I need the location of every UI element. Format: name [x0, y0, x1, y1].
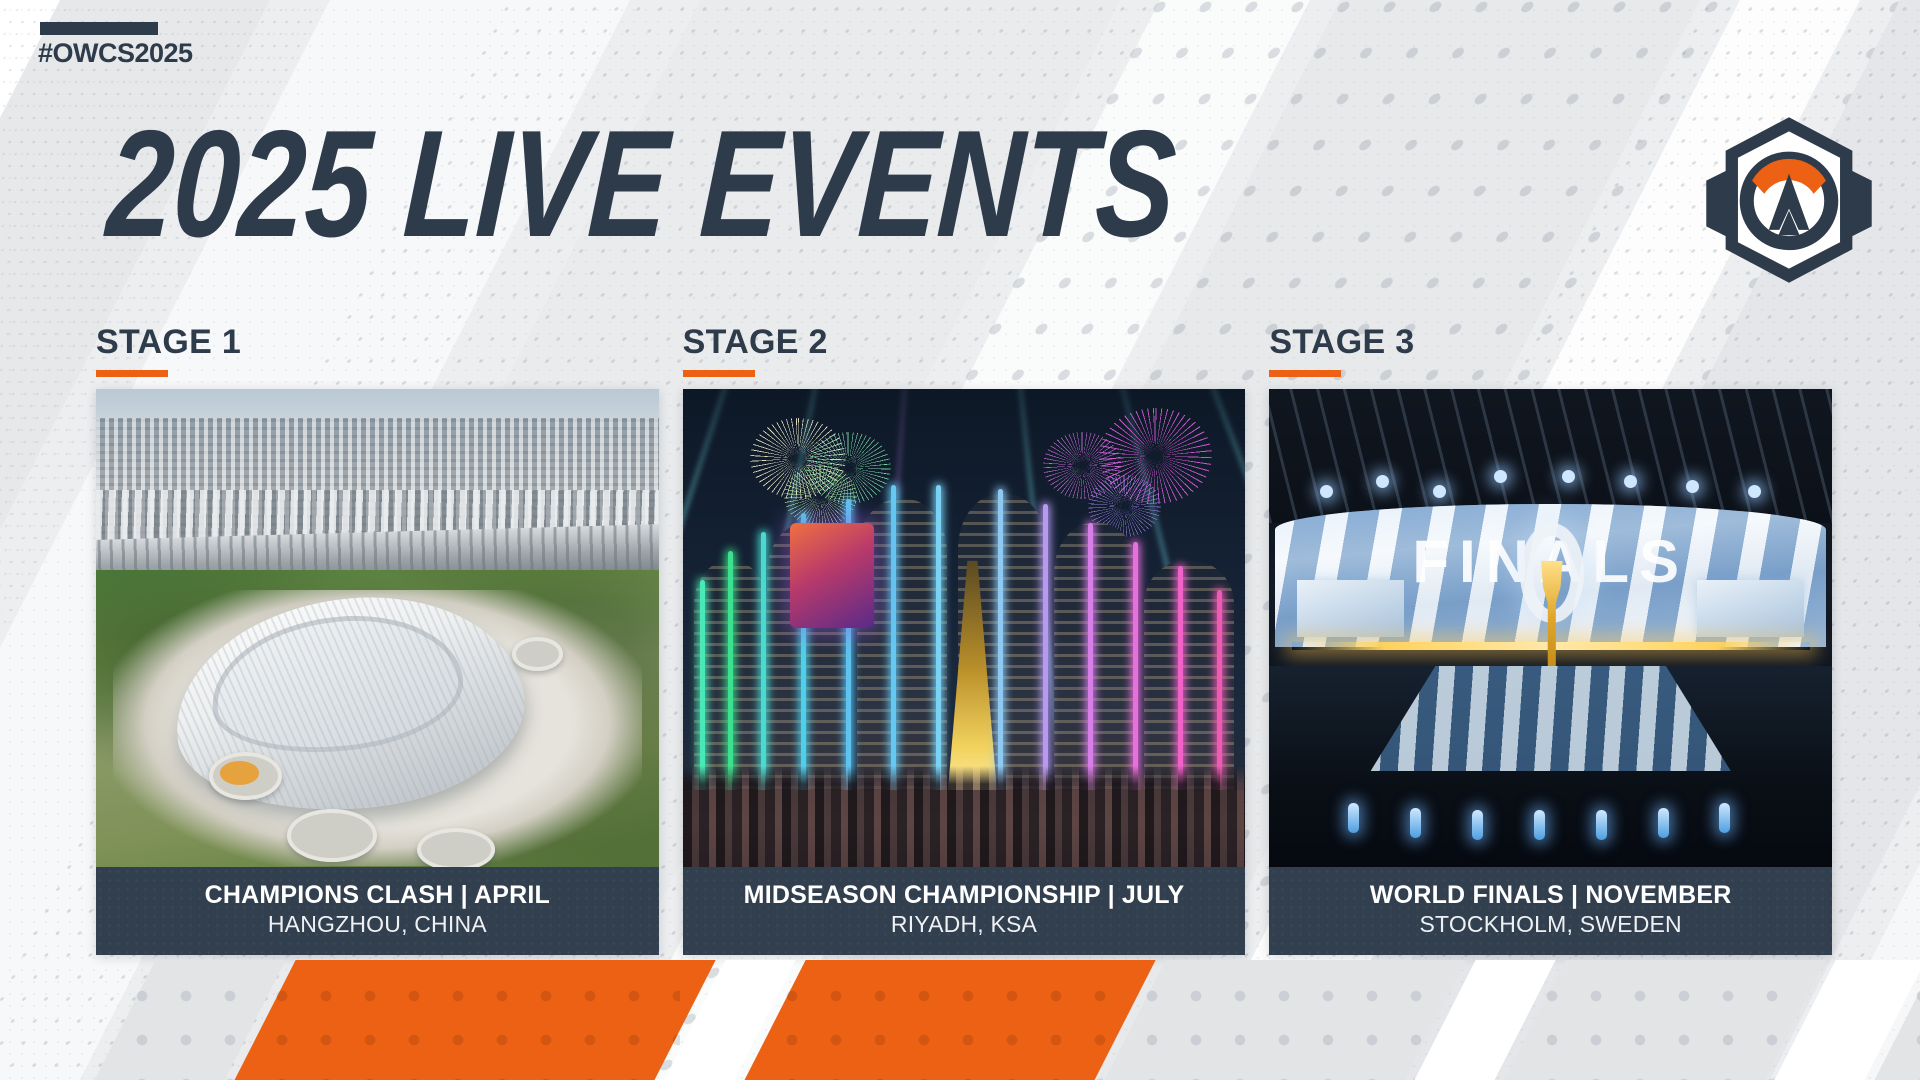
bottom-stripe-orange [209, 960, 731, 1080]
owcs-world-finals-stage-photo: FINALS [1269, 389, 1832, 867]
bottom-stripe-orange [719, 960, 1171, 1080]
stage-rule-3 [1269, 370, 1341, 377]
hashtag-rule [40, 22, 158, 35]
stage-card-body-1[interactable]: CHAMPIONS CLASH | APRIL HANGZHOU, CHINA [96, 389, 659, 955]
stage-caption-1: CHAMPIONS CLASH | APRIL HANGZHOU, CHINA [96, 867, 659, 956]
stage-caption-3: WORLD FINALS | NOVEMBER STOCKHOLM, SWEDE… [1269, 867, 1832, 956]
stage-event-1: CHAMPIONS CLASH | APRIL [104, 881, 651, 910]
stage-card-body-3[interactable]: FINALS [1269, 389, 1832, 955]
stage-label-1: STAGE 1 [96, 325, 659, 359]
page-title: 2025 LIVE EVENTS [104, 108, 1180, 260]
bottom-accent-stripes [0, 960, 1920, 1080]
stage-rule-2 [683, 370, 755, 377]
stage-card-3[interactable]: STAGE 3 FINALS [1269, 325, 1832, 955]
svg-text:®: ® [1844, 238, 1851, 249]
stage-caption-2: MIDSEASON CHAMPIONSHIP | JULY RIYADH, KS… [683, 867, 1246, 956]
stage-event-3: WORLD FINALS | NOVEMBER [1277, 881, 1824, 910]
bottom-stripe-grey [1079, 960, 1481, 1080]
stage-event-2: MIDSEASON CHAMPIONSHIP | JULY [691, 881, 1238, 910]
hashtag-label: #OWCS2025 [38, 38, 193, 69]
stage-label-3: STAGE 3 [1269, 325, 1832, 359]
stage-card-1[interactable]: STAGE 1 CHAMPIONS CLAS [96, 325, 659, 955]
stage-location-2: RIYADH, KSA [691, 910, 1238, 939]
riyadh-esports-world-cup-venue-photo [683, 389, 1246, 867]
stage-card-2[interactable]: STAGE 2 [683, 325, 1246, 955]
ewc-screen [790, 523, 874, 628]
stage-location-1: HANGZHOU, CHINA [104, 910, 651, 939]
stage-location-3: STOCKHOLM, SWEDEN [1277, 910, 1824, 939]
stage-label-2: STAGE 2 [683, 325, 1246, 359]
stage-card-list: STAGE 1 CHAMPIONS CLAS [96, 325, 1832, 955]
hangzhou-arena-aerial-photo [96, 389, 659, 867]
stage-card-body-2[interactable]: MIDSEASON CHAMPIONSHIP | JULY RIYADH, KS… [683, 389, 1246, 955]
stage-rule-1 [96, 370, 168, 377]
owcs-logo: ® [1700, 112, 1878, 288]
